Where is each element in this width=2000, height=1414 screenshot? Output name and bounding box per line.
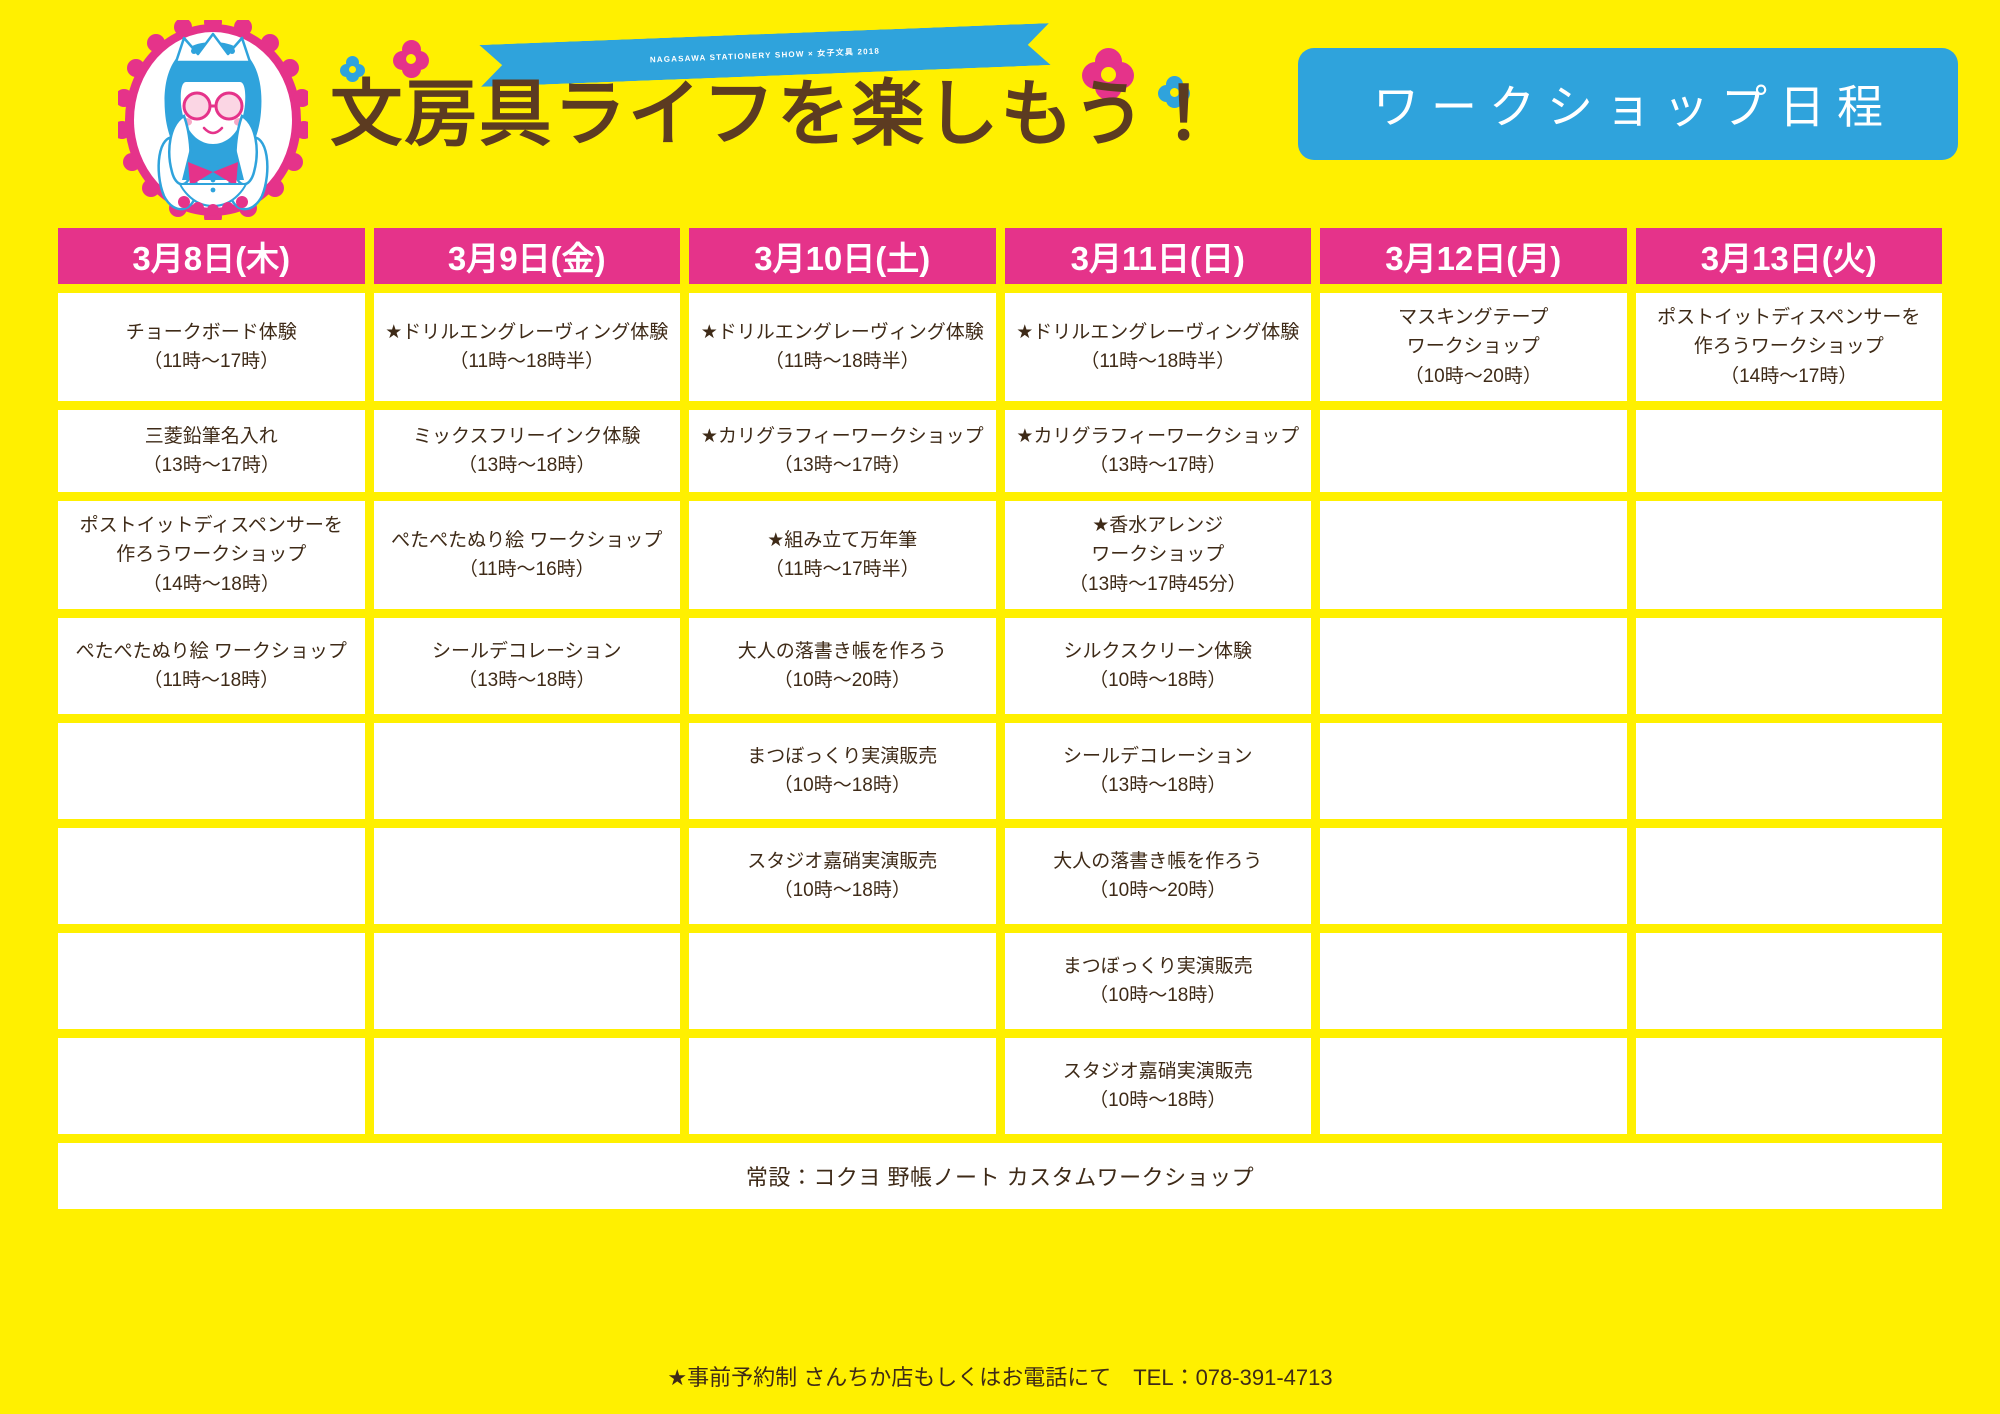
schedule-event-cell: シールデコレーション（13時〜18時）: [374, 618, 681, 714]
event-name: シールデコレーション: [1063, 742, 1253, 771]
event-time: （10時〜18時）: [1089, 981, 1226, 1010]
date-header-cell: 3月8日(木): [58, 228, 365, 284]
page-title: 文房具ライフを楽しもう！: [330, 70, 1222, 161]
schedule-empty-cell: [58, 933, 365, 1029]
schedule-event-cell: チョークボード体験（11時〜17時）: [58, 293, 365, 401]
schedule-row: まつぼっくり実演販売（10時〜18時）: [58, 933, 1942, 1029]
event-name: 三菱鉛筆名入れ: [145, 422, 278, 451]
event-time: （10時〜20時）: [1405, 362, 1542, 391]
event-name: マスキングテープ: [1398, 303, 1548, 332]
page-header: NAGASAWA STATIONERY SHOW × 女子文具 2018 文房具…: [0, 0, 2000, 222]
event-name: 大人の落書き帳を作ろう: [738, 637, 947, 666]
schedule-empty-cell: [58, 1038, 365, 1134]
event-name: まつぼっくり実演販売: [747, 742, 937, 771]
event-name: ワークショップ: [1091, 540, 1224, 569]
schedule-row: スタジオ嘉硝実演販売（10時〜18時）大人の落書き帳を作ろう（10時〜20時）: [58, 828, 1942, 924]
schedule-empty-cell: [1636, 1038, 1943, 1134]
event-time: （11時〜18時半）: [1080, 347, 1235, 376]
schedule-event-cell: マスキングテープワークショップ（10時〜20時）: [1320, 293, 1627, 401]
event-name: スタジオ嘉硝実演販売: [1063, 1057, 1253, 1086]
schedule-empty-cell: [1636, 410, 1943, 492]
event-time: （11時〜18時半）: [449, 347, 604, 376]
schedule-empty-cell: [1320, 1038, 1627, 1134]
schedule-empty-cell: [58, 828, 365, 924]
workshop-schedule-badge: ワークショップ日程: [1298, 48, 1958, 160]
event-time: （13時〜17時）: [143, 451, 280, 480]
event-time: （10時〜18時）: [1089, 1086, 1226, 1115]
schedule-empty-cell: [689, 1038, 996, 1134]
event-time: （10時〜20時）: [1089, 876, 1226, 905]
event-time: （13時〜17時45分）: [1069, 570, 1246, 599]
date-header-label: 3月10日(土): [754, 232, 930, 280]
schedule-event-cell: ★組み立て万年筆（11時〜17時半）: [689, 501, 996, 609]
event-name: チョークボード体験: [126, 318, 297, 347]
schedule-empty-cell: [374, 933, 681, 1029]
workshop-schedule-label: ワークショップ日程: [1361, 71, 1895, 137]
date-header-cell: 3月13日(火): [1636, 228, 1943, 284]
event-time: （14時〜17時）: [1720, 362, 1857, 391]
schedule-event-cell: まつぼっくり実演販売（10時〜18時）: [1005, 933, 1312, 1029]
schedule-event-cell: ポストイットディスペンサーを作ろうワークショップ（14時〜17時）: [1636, 293, 1943, 401]
date-header-label: 3月11日(日): [1071, 232, 1245, 280]
schedule-row: チョークボード体験（11時〜17時）★ドリルエングレーヴィング体験（11時〜18…: [58, 293, 1942, 401]
schedule-empty-cell: [1636, 618, 1943, 714]
reservation-note-label: ★事前予約制 さんちか店もしくはお電話にて TEL：078-391-4713: [667, 1365, 1332, 1390]
schedule-empty-cell: [1636, 933, 1943, 1029]
schedule-event-cell: シルクスクリーン体験（10時〜18時）: [1005, 618, 1312, 714]
event-name: ★ドリルエングレーヴィング体験: [701, 318, 984, 347]
date-header-label: 3月8日(木): [132, 232, 290, 280]
event-time: （10時〜18時）: [774, 876, 911, 905]
schedule-event-cell: 大人の落書き帳を作ろう（10時〜20時）: [1005, 828, 1312, 924]
schedule-event-cell: スタジオ嘉硝実演販売（10時〜18時）: [689, 828, 996, 924]
schedule-event-cell: ★ドリルエングレーヴィング体験（11時〜18時半）: [1005, 293, 1312, 401]
event-time: （11時〜18時）: [143, 666, 279, 695]
schedule-event-cell: ぺたぺたぬり絵 ワークショップ（11時〜18時）: [58, 618, 365, 714]
event-name: ぺたぺたぬり絵 ワークショップ: [76, 637, 347, 666]
schedule-event-cell: 三菱鉛筆名入れ（13時〜17時）: [58, 410, 365, 492]
event-name: ★カリグラフィーワークショップ: [1016, 422, 1299, 451]
event-time: （10時〜20時）: [774, 666, 911, 695]
event-time: （10時〜18時）: [774, 771, 911, 800]
schedule-event-cell: ポストイットディスペンサーを作ろうワークショップ（14時〜18時）: [58, 501, 365, 609]
schedule-empty-cell: [1320, 618, 1627, 714]
permanent-workshop-row: 常設：コクヨ 野帳ノート カスタムワークショップ: [58, 1143, 1942, 1209]
event-time: （11時〜16時）: [459, 555, 595, 584]
event-time: （11時〜17時）: [143, 347, 279, 376]
schedule-empty-cell: [1636, 723, 1943, 819]
schedule-event-cell: ★香水アレンジワークショップ（13時〜17時45分）: [1005, 501, 1312, 609]
event-time: （13時〜17時）: [774, 451, 911, 480]
date-header-cell: 3月12日(月): [1320, 228, 1627, 284]
mascot-illustration: [118, 20, 308, 220]
schedule-row: スタジオ嘉硝実演販売（10時〜18時）: [58, 1038, 1942, 1134]
schedule-event-cell: まつぼっくり実演販売（10時〜18時）: [689, 723, 996, 819]
schedule-empty-cell: [689, 933, 996, 1029]
event-time: （11時〜18時半）: [765, 347, 920, 376]
event-name: ★ドリルエングレーヴィング体験: [1016, 318, 1299, 347]
schedule-empty-cell: [1636, 501, 1943, 609]
schedule-empty-cell: [1636, 828, 1943, 924]
schedule-event-cell: ミックスフリーインク体験（13時〜18時）: [374, 410, 681, 492]
schedule-event-cell: ★ドリルエングレーヴィング体験（11時〜18時半）: [374, 293, 681, 401]
event-name: ワークショップ: [1407, 332, 1540, 361]
event-time: （11時〜17時半）: [765, 555, 920, 584]
event-name: ポストイットディスペンサーを: [1657, 303, 1920, 332]
schedule-event-cell: ぺたぺたぬり絵 ワークショップ（11時〜16時）: [374, 501, 681, 609]
event-name: シールデコレーション: [432, 637, 622, 666]
event-name: ★カリグラフィーワークショップ: [701, 422, 984, 451]
event-name: まつぼっくり実演販売: [1063, 952, 1253, 981]
date-header-cell: 3月10日(土): [689, 228, 996, 284]
schedule-row: ポストイットディスペンサーを作ろうワークショップ（14時〜18時）ぺたぺたぬり絵…: [58, 501, 1942, 609]
reservation-note: ★事前予約制 さんちか店もしくはお電話にて TEL：078-391-4713: [0, 1360, 2000, 1392]
schedule-event-cell: 大人の落書き帳を作ろう（10時〜20時）: [689, 618, 996, 714]
event-name: ぺたぺたぬり絵 ワークショップ: [391, 526, 662, 555]
event-time: （13時〜18時）: [458, 451, 595, 480]
schedule-event-cell: スタジオ嘉硝実演販売（10時〜18時）: [1005, 1038, 1312, 1134]
event-time: （10時〜18時）: [1089, 666, 1226, 695]
schedule-empty-cell: [58, 723, 365, 819]
date-header-cell: 3月11日(日): [1005, 228, 1312, 284]
event-name: 大人の落書き帳を作ろう: [1053, 847, 1262, 876]
event-name: ポストイットディスペンサーを: [80, 511, 343, 540]
schedule-body: チョークボード体験（11時〜17時）★ドリルエングレーヴィング体験（11時〜18…: [58, 293, 1942, 1134]
permanent-workshop-label: 常設：コクヨ 野帳ノート カスタムワークショップ: [746, 1160, 1254, 1192]
schedule-header-row: 3月8日(木) 3月9日(金) 3月10日(土) 3月11日(日) 3月12日(…: [58, 228, 1942, 284]
schedule-empty-cell: [1320, 933, 1627, 1029]
event-name: ★ドリルエングレーヴィング体験: [385, 318, 668, 347]
event-time: （14時〜18時）: [143, 570, 280, 599]
schedule-event-cell: ★カリグラフィーワークショップ（13時〜17時）: [689, 410, 996, 492]
schedule-row: ぺたぺたぬり絵 ワークショップ（11時〜18時）シールデコレーション（13時〜1…: [58, 618, 1942, 714]
schedule-row: 三菱鉛筆名入れ（13時〜17時）ミックスフリーインク体験（13時〜18時）★カリ…: [58, 410, 1942, 492]
schedule-empty-cell: [1320, 828, 1627, 924]
event-time: （13時〜18時）: [1089, 771, 1226, 800]
permanent-workshop-cell: 常設：コクヨ 野帳ノート カスタムワークショップ: [58, 1143, 1942, 1209]
schedule-event-cell: シールデコレーション（13時〜18時）: [1005, 723, 1312, 819]
event-time: （13時〜17時）: [1089, 451, 1226, 480]
schedule-empty-cell: [1320, 723, 1627, 819]
schedule-empty-cell: [1320, 410, 1627, 492]
schedule-event-cell: ★ドリルエングレーヴィング体験（11時〜18時半）: [689, 293, 996, 401]
schedule-empty-cell: [1320, 501, 1627, 609]
event-name: 作ろうワークショップ: [116, 540, 306, 569]
schedule-empty-cell: [374, 828, 681, 924]
event-name: ミックスフリーインク体験: [413, 422, 640, 451]
event-name: 作ろうワークショップ: [1694, 332, 1884, 361]
schedule-row: まつぼっくり実演販売（10時〜18時）シールデコレーション（13時〜18時）: [58, 723, 1942, 819]
schedule-table: 3月8日(木) 3月9日(金) 3月10日(土) 3月11日(日) 3月12日(…: [58, 228, 1942, 1209]
date-header-cell: 3月9日(金): [374, 228, 681, 284]
schedule-empty-cell: [374, 1038, 681, 1134]
title-block: NAGASAWA STATIONERY SHOW × 女子文具 2018 文房具…: [330, 22, 1230, 212]
event-name: シルクスクリーン体験: [1064, 637, 1252, 666]
schedule-empty-cell: [374, 723, 681, 819]
date-header-label: 3月13日(火): [1701, 232, 1877, 280]
date-header-label: 3月12日(月): [1385, 232, 1561, 280]
event-name: ★組み立て万年筆: [767, 526, 917, 555]
event-time: （13時〜18時）: [458, 666, 595, 695]
event-name: スタジオ嘉硝実演販売: [747, 847, 937, 876]
schedule-event-cell: ★カリグラフィーワークショップ（13時〜17時）: [1005, 410, 1312, 492]
date-header-label: 3月9日(金): [448, 232, 606, 280]
event-name: ★香水アレンジ: [1092, 511, 1223, 540]
